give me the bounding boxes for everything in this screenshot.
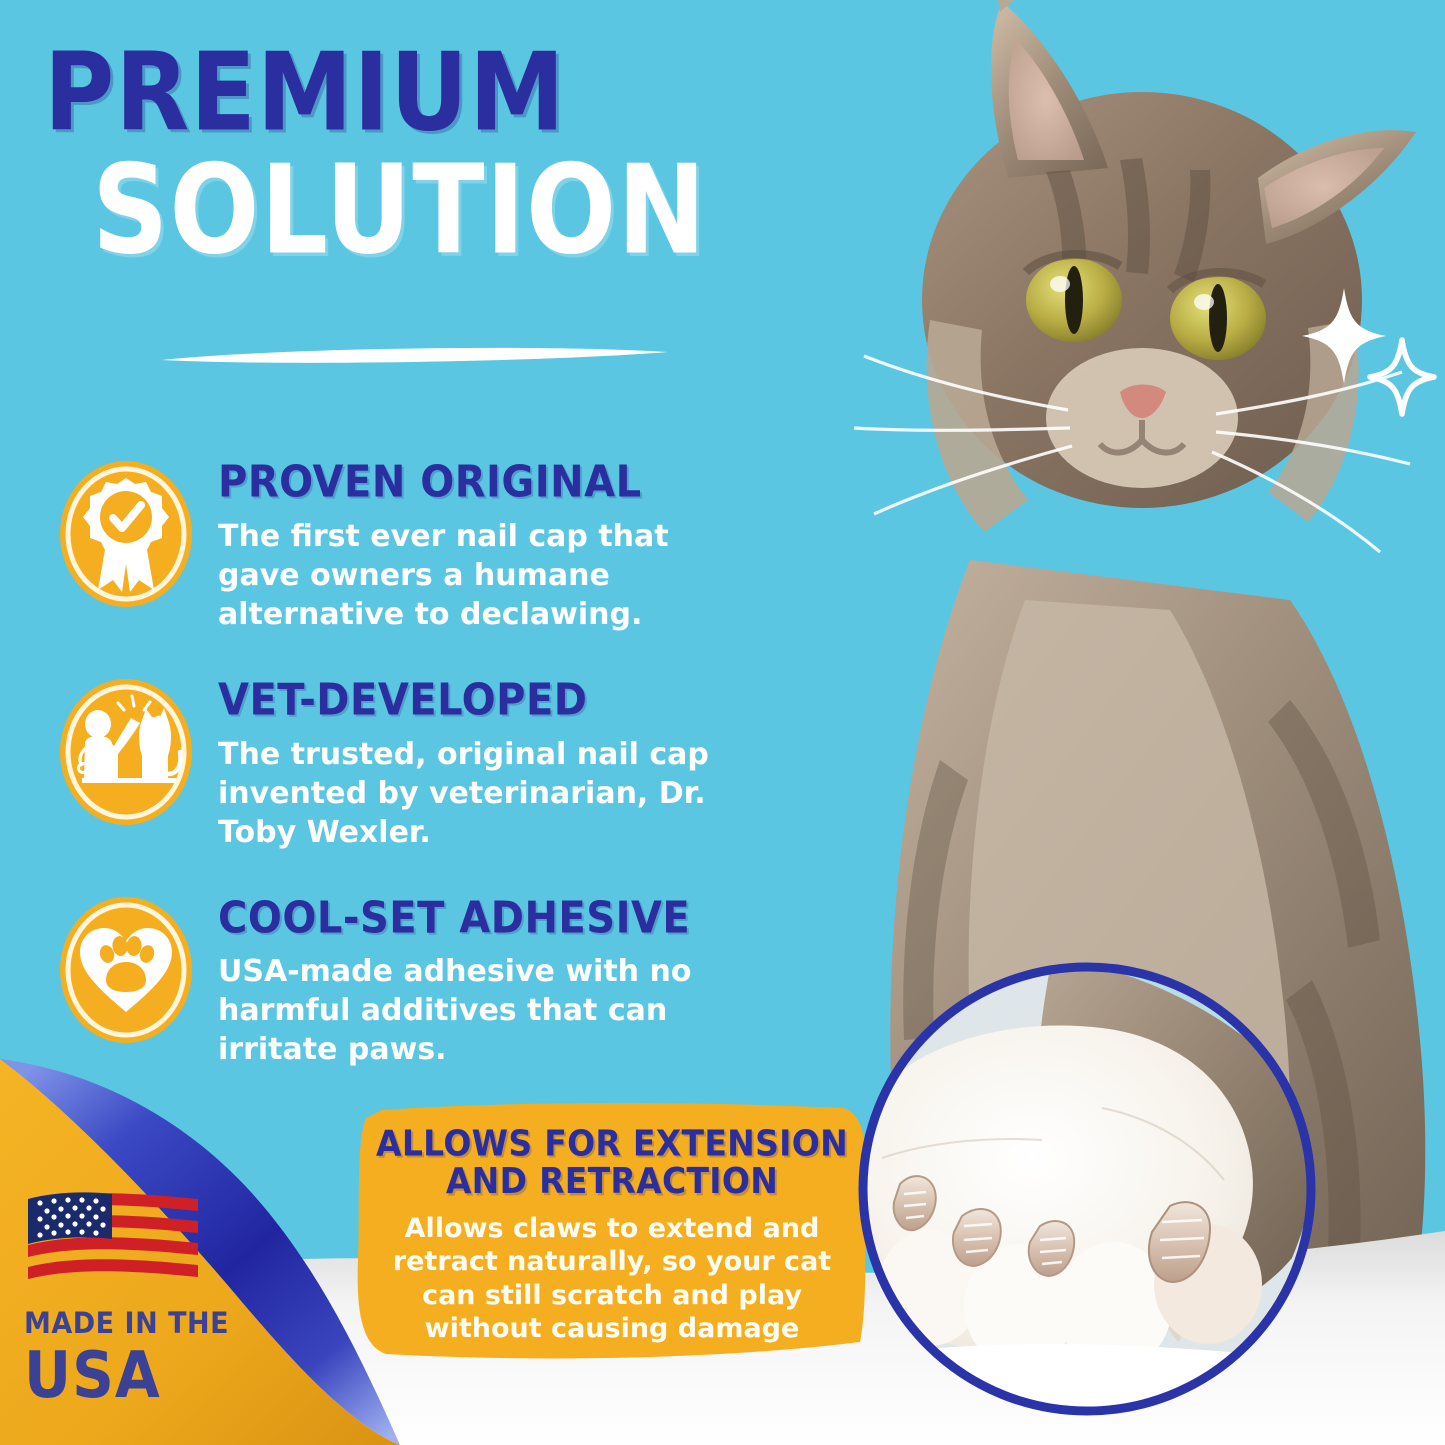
made-in-usa-line-2: USA <box>24 1342 254 1409</box>
feature-title: COOL-SET ADHESIVE <box>218 896 816 941</box>
headline: PREMIUM SOLUTION <box>0 42 820 252</box>
callout-title-line-1: ALLOWS FOR EXTENSION <box>376 1125 848 1163</box>
infographic-canvas: PREMIUM SOLUTION PROVEN ORIGINAL The fir… <box>0 0 1445 1445</box>
cat-paw-inset <box>852 958 1322 1420</box>
feature-list: PROVEN ORIGINAL The first ever nail cap … <box>56 452 816 1105</box>
headline-line-1: PREMIUM <box>44 42 820 143</box>
sparkle-outline-icon <box>1366 336 1438 418</box>
headline-line-2: SOLUTION <box>44 154 820 267</box>
made-in-usa-badge: MADE IN THE USA <box>24 1189 254 1403</box>
feature-description: The trusted, original nail cap invented … <box>218 735 788 852</box>
callout-description: Allows claws to extend and retract natur… <box>376 1212 848 1346</box>
award-ribbon-icon <box>56 458 196 610</box>
vet-high-five-cat-icon <box>56 676 196 828</box>
tapered-divider <box>160 342 670 368</box>
feature-item: COOL-SET ADHESIVE USA-made adhesive with… <box>56 888 816 1070</box>
feature-item: VET-DEVELOPED The trusted, original nail… <box>56 670 816 852</box>
callout-title: ALLOWS FOR EXTENSION AND RETRACTION <box>376 1125 848 1201</box>
made-in-usa-line-1: MADE IN THE <box>24 1309 254 1338</box>
heart-paw-icon <box>56 894 196 1046</box>
extension-retraction-callout: ALLOWS FOR EXTENSION AND RETRACTION Allo… <box>352 1102 872 1370</box>
feature-title: PROVEN ORIGINAL <box>218 460 816 505</box>
callout-title-line-2: AND RETRACTION <box>376 1163 848 1201</box>
american-flag-icon <box>24 1189 202 1297</box>
feature-title: VET-DEVELOPED <box>218 678 816 723</box>
feature-description: The first ever nail cap that gave owners… <box>218 517 693 634</box>
feature-item: PROVEN ORIGINAL The first ever nail cap … <box>56 452 816 634</box>
